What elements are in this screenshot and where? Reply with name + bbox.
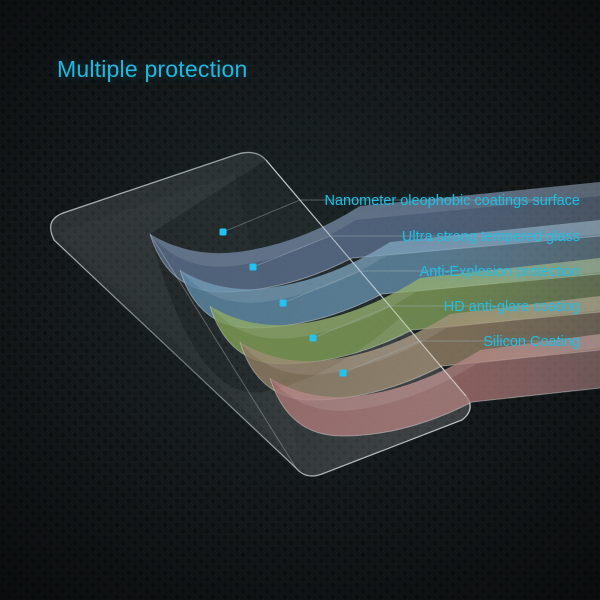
layer-label-hd-anti-glare-coating: HD anti-glare coating xyxy=(444,299,580,315)
layer-marker-dot xyxy=(340,370,347,377)
layer-label-silicon-coating: Silicon Coating xyxy=(483,334,580,350)
layer-label-anti-explosion-protection: Anti-Explosion protection xyxy=(420,264,580,280)
layer-label-ultra-strong-tempered-glass: Ultra strong tempered glass xyxy=(402,229,580,245)
layer-marker-dot xyxy=(310,335,317,342)
product-feature-graphic: Multiple protection xyxy=(0,0,600,600)
layer-marker-dot xyxy=(250,264,257,271)
layer-marker-dot xyxy=(280,300,287,307)
layer-marker-dot xyxy=(220,229,227,236)
layer-label-nanometer-oleophobic-coatings-surface: Nanometer oleophobic coatings surface xyxy=(324,193,580,209)
